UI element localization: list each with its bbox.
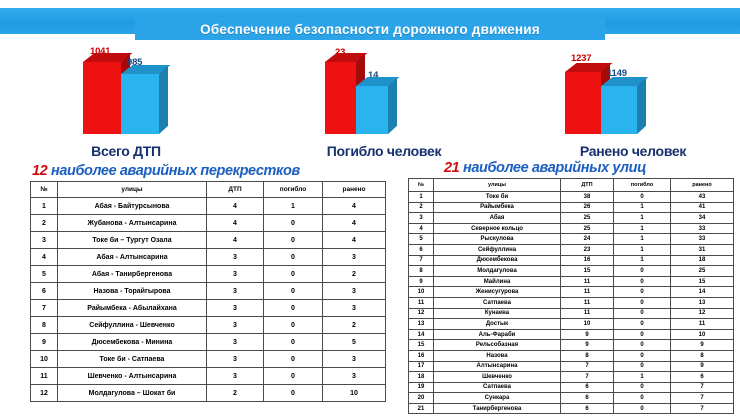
cell-dead: 0 — [614, 393, 671, 404]
cell-dtp: 3 — [207, 249, 264, 266]
column-header-hurt: ранено — [671, 179, 734, 192]
title-banner-inner: Обеспечение безопасности дорожного движе… — [135, 18, 605, 40]
cell-num: 10 — [31, 351, 58, 368]
column-header-dead: погибло — [614, 179, 671, 192]
cell-street: Шевченко - Алтынсарина — [58, 368, 207, 385]
left-table-heading-text: наиболее аварийных перекрестков — [51, 163, 300, 179]
chart-raneno-chelovek: 1237 1149 Ранено человек — [535, 42, 735, 160]
column-header-hurt: ранено — [323, 182, 386, 198]
table-row: 10Токе би - Сатпаева303 — [31, 351, 386, 368]
cell-num: 14 — [409, 329, 434, 340]
bar-red — [83, 62, 121, 134]
bar-blue — [121, 74, 159, 134]
bar-blue-side — [388, 78, 397, 134]
cell-hurt: 43 — [671, 192, 734, 203]
cell-street: Абая — [434, 213, 561, 224]
cell-hurt: 13 — [671, 297, 734, 308]
cell-num: 6 — [31, 283, 58, 300]
cell-num: 21 — [409, 403, 434, 414]
bar-blue-front — [356, 86, 388, 134]
cell-num: 18 — [409, 372, 434, 383]
cell-street: Алтынсарина — [434, 361, 561, 372]
chart-label: Погибло человек — [284, 143, 484, 159]
cell-street: Назова - Торайгырова — [58, 283, 207, 300]
table-row: 7Райымбека - Абылайхана303 — [31, 300, 386, 317]
cell-street: Кунаева — [434, 308, 561, 319]
cell-dead: 1 — [614, 202, 671, 213]
table-row: 4Абая - Алтынсарина303 — [31, 249, 386, 266]
cell-dead: 0 — [264, 385, 323, 402]
cell-dead: 0 — [614, 308, 671, 319]
right-table-heading: 21 наиболее аварийных улиц — [444, 160, 646, 176]
cell-dtp: 11 — [561, 287, 614, 298]
cell-hurt: 3 — [323, 300, 386, 317]
cell-hurt: 15 — [671, 276, 734, 287]
cell-hurt: 7 — [671, 403, 734, 414]
cell-dtp: 4 — [207, 232, 264, 249]
cell-dtp: 4 — [207, 215, 264, 232]
cell-hurt: 33 — [671, 234, 734, 245]
chart-label: Всего ДТП — [58, 143, 194, 159]
cell-hurt: 2 — [323, 266, 386, 283]
cell-dead: 1 — [264, 198, 323, 215]
cell-num: 11 — [409, 297, 434, 308]
cell-dtp: 7 — [561, 361, 614, 372]
bar-blue-side — [159, 66, 168, 134]
cell-dtp: 3 — [207, 368, 264, 385]
chart-bars: 1041 985 — [58, 42, 258, 142]
table-row: 10Женисугурова11014 — [409, 287, 734, 298]
cell-dtp: 3 — [207, 334, 264, 351]
cell-hurt: 14 — [671, 287, 734, 298]
table-row: 21Танирбергенова607 — [409, 403, 734, 414]
bar-red — [325, 62, 356, 134]
cell-dtp: 9 — [561, 340, 614, 351]
cell-street: Рыскулова — [434, 234, 561, 245]
cell-street: Сатпаева — [434, 382, 561, 393]
cell-dtp: 23 — [561, 244, 614, 255]
cell-hurt: 3 — [323, 368, 386, 385]
cell-dead: 0 — [264, 334, 323, 351]
cell-hurt: 41 — [671, 202, 734, 213]
table-row: 14Аль-Фараби9010 — [409, 329, 734, 340]
left-table-body: 1Абая - Байтурсынова4142Жубанова - Алтын… — [31, 198, 386, 402]
cell-num: 1 — [31, 198, 58, 215]
cell-dtp: 3 — [207, 317, 264, 334]
table-row: 3Токе би – Тургут Озала404 — [31, 232, 386, 249]
cell-dtp: 25 — [561, 223, 614, 234]
column-header-dead: погибло — [264, 182, 323, 198]
cell-num: 13 — [409, 319, 434, 330]
cell-dead: 0 — [614, 192, 671, 203]
cell-dtp: 11 — [561, 308, 614, 319]
bar-blue — [601, 86, 637, 134]
cell-street: Северное кольцо — [434, 223, 561, 234]
cell-dtp: 8 — [561, 350, 614, 361]
table-row: 20Сункара607 — [409, 393, 734, 404]
cell-num: 11 — [31, 368, 58, 385]
table-row: 1Токе би38043 — [409, 192, 734, 203]
table-row: 5Рыскулова24133 — [409, 234, 734, 245]
cell-hurt: 3 — [323, 351, 386, 368]
cell-dead: 1 — [614, 372, 671, 383]
cell-num: 3 — [31, 232, 58, 249]
cell-num: 7 — [409, 255, 434, 266]
right-table-heading-count: 21 — [444, 160, 459, 176]
cell-dead: 1 — [614, 234, 671, 245]
chart-label: Ранено человек — [533, 143, 733, 159]
table-row: 2Райымбека26141 — [409, 202, 734, 213]
cell-dtp: 26 — [561, 202, 614, 213]
cell-dead: 1 — [614, 223, 671, 234]
cell-street: Дюсембекова - Минина — [58, 334, 207, 351]
cell-street: Сункара — [434, 393, 561, 404]
table-header-row: № улицы ДТП погибло ранено — [31, 182, 386, 198]
page-title: Обеспечение безопасности дорожного движе… — [200, 22, 540, 37]
table-row: 2Жубанова - Алтынсарина404 — [31, 215, 386, 232]
cell-num: 9 — [409, 276, 434, 287]
table-row: 3Абая25134 — [409, 213, 734, 224]
column-header-num: № — [409, 179, 434, 192]
cell-dtp: 4 — [207, 198, 264, 215]
table-row: 19Сатпаева607 — [409, 382, 734, 393]
chart-pogiblo-chelovek: 23 14 Погибло человек — [292, 42, 492, 160]
title-banner: Обеспечение безопасности дорожного движе… — [0, 8, 740, 34]
cell-dtp: 7 — [561, 372, 614, 383]
table-row: 1Абая - Байтурсынова414 — [31, 198, 386, 215]
bar-red-front — [83, 62, 121, 134]
table-row: 13Достык10011 — [409, 319, 734, 330]
column-header-street: улицы — [58, 182, 207, 198]
cell-dtp: 3 — [207, 351, 264, 368]
cell-dead: 0 — [614, 329, 671, 340]
cell-num: 5 — [31, 266, 58, 283]
table-row: 12Кунаева11012 — [409, 308, 734, 319]
cell-street: Райымбека - Абылайхана — [58, 300, 207, 317]
cell-dead: 0 — [614, 266, 671, 277]
cell-hurt: 3 — [323, 249, 386, 266]
right-table-heading-text: наиболее аварийных улиц — [463, 160, 646, 176]
cell-dead: 0 — [614, 350, 671, 361]
chart-vsego-dtp: 1041 985 Всего ДТП — [58, 42, 258, 160]
cell-num: 16 — [409, 350, 434, 361]
chart-bars: 23 14 — [292, 42, 492, 142]
cell-dtp: 3 — [207, 266, 264, 283]
cell-street: Райымбека — [434, 202, 561, 213]
cell-dead: 0 — [614, 382, 671, 393]
cell-hurt: 3 — [323, 283, 386, 300]
cell-street: Достык — [434, 319, 561, 330]
cell-num: 20 — [409, 393, 434, 404]
table-row: 11Шевченко - Алтынсарина303 — [31, 368, 386, 385]
cell-dead: 0 — [264, 283, 323, 300]
cell-num: 9 — [31, 334, 58, 351]
cell-street: Жубанова - Алтынсарина — [58, 215, 207, 232]
cell-hurt: 4 — [323, 232, 386, 249]
cell-street: Дюсембекова — [434, 255, 561, 266]
cell-num: 7 — [31, 300, 58, 317]
table-row: 12Молдагулова – Шокат би2010 — [31, 385, 386, 402]
cell-dtp: 16 — [561, 255, 614, 266]
table-row: 9Дюсембекова - Минина305 — [31, 334, 386, 351]
cell-hurt: 10 — [671, 329, 734, 340]
cell-dead: 0 — [264, 249, 323, 266]
left-table-heading: 12 наиболее аварийных перекрестков — [32, 163, 300, 179]
cell-dtp: 6 — [561, 403, 614, 414]
cell-street: Абая - Алтынсарина — [58, 249, 207, 266]
cell-num: 8 — [31, 317, 58, 334]
cell-num: 15 — [409, 340, 434, 351]
cell-dtp: 38 — [561, 192, 614, 203]
cell-num: 3 — [409, 213, 434, 224]
cell-dead: 0 — [264, 215, 323, 232]
cell-hurt: 2 — [323, 317, 386, 334]
cell-street: Сейфуллина - Шевченко — [58, 317, 207, 334]
cell-dead: 0 — [614, 319, 671, 330]
cell-dead: 0 — [614, 287, 671, 298]
bar-blue-side — [637, 78, 646, 134]
bar-blue-front — [121, 74, 159, 134]
table-row: 17Алтынсарина709 — [409, 361, 734, 372]
cell-hurt: 6 — [671, 372, 734, 383]
cell-dead: 0 — [264, 351, 323, 368]
column-header-num: № — [31, 182, 58, 198]
cell-dtp: 24 — [561, 234, 614, 245]
cell-dead: 0 — [614, 403, 671, 414]
cell-hurt: 18 — [671, 255, 734, 266]
cell-num: 12 — [409, 308, 434, 319]
cell-num: 4 — [409, 223, 434, 234]
chart-bars: 1237 1149 — [535, 42, 735, 142]
cell-num: 19 — [409, 382, 434, 393]
cell-street: Молдагулова — [434, 266, 561, 277]
table-header-row: № улицы ДТП погибло ранено — [409, 179, 734, 192]
cell-street: Молдагулова – Шокат би — [58, 385, 207, 402]
left-table-head: № улицы ДТП погибло ранено — [31, 182, 386, 198]
table-row: 5Абая - Танирбергенова302 — [31, 266, 386, 283]
cell-dtp: 11 — [561, 297, 614, 308]
left-table-heading-count: 12 — [32, 163, 47, 179]
cell-num: 2 — [31, 215, 58, 232]
column-header-dtp: ДТП — [207, 182, 264, 198]
table-row: 6Назова - Торайгырова303 — [31, 283, 386, 300]
cell-dtp: 6 — [561, 382, 614, 393]
cell-dead: 1 — [614, 244, 671, 255]
cell-dead: 0 — [614, 361, 671, 372]
cell-num: 12 — [31, 385, 58, 402]
table-row: 6Сейфуллина23131 — [409, 244, 734, 255]
cell-dtp: 15 — [561, 266, 614, 277]
cell-street: Назова — [434, 350, 561, 361]
cell-dead: 0 — [264, 232, 323, 249]
cell-num: 10 — [409, 287, 434, 298]
cell-street: Рельсобазная — [434, 340, 561, 351]
right-table-head: № улицы ДТП погибло ранено — [409, 179, 734, 192]
cell-dead: 0 — [614, 340, 671, 351]
table-row: 9Майлина11015 — [409, 276, 734, 287]
table-row: 11Сатпаева11013 — [409, 297, 734, 308]
cell-dead: 0 — [264, 317, 323, 334]
cell-dead: 1 — [614, 255, 671, 266]
table-row: 4Северное кольцо25133 — [409, 223, 734, 234]
cell-street: Сатпаева — [434, 297, 561, 308]
cell-dead: 0 — [614, 276, 671, 287]
table-row: 8Молдагулова15025 — [409, 266, 734, 277]
bar-blue — [356, 86, 388, 134]
cell-dtp: 25 — [561, 213, 614, 224]
cell-dead: 1 — [614, 213, 671, 224]
bar-red-front — [565, 72, 601, 134]
cell-hurt: 33 — [671, 223, 734, 234]
cell-dtp: 3 — [207, 300, 264, 317]
cell-hurt: 11 — [671, 319, 734, 330]
cell-hurt: 31 — [671, 244, 734, 255]
column-header-dtp: ДТП — [561, 179, 614, 192]
cell-dead: 0 — [614, 297, 671, 308]
cell-street: Абая - Байтурсынова — [58, 198, 207, 215]
cell-street: Аль-Фараби — [434, 329, 561, 340]
column-header-street: улицы — [434, 179, 561, 192]
cell-num: 17 — [409, 361, 434, 372]
cell-hurt: 7 — [671, 393, 734, 404]
cell-hurt: 7 — [671, 382, 734, 393]
cell-hurt: 4 — [323, 215, 386, 232]
bar-blue-front — [601, 86, 637, 134]
table-row: 15Рельсобазная909 — [409, 340, 734, 351]
cell-hurt: 5 — [323, 334, 386, 351]
table-row: 16Назова808 — [409, 350, 734, 361]
table-row: 7Дюсембекова16118 — [409, 255, 734, 266]
table-row: 18Шевченко716 — [409, 372, 734, 383]
cell-dtp: 10 — [561, 319, 614, 330]
cell-street: Танирбергенова — [434, 403, 561, 414]
cell-dtp: 2 — [207, 385, 264, 402]
cell-dead: 0 — [264, 266, 323, 283]
cell-street: Токе би — [434, 192, 561, 203]
slide-canvas: Обеспечение безопасности дорожного движе… — [0, 0, 740, 416]
cell-dtp: 9 — [561, 329, 614, 340]
cell-dtp: 11 — [561, 276, 614, 287]
cell-hurt: 9 — [671, 340, 734, 351]
cell-num: 8 — [409, 266, 434, 277]
bar-red — [565, 72, 601, 134]
cell-dtp: 6 — [561, 393, 614, 404]
right-table-body: 1Токе би380432Райымбека261413Абая251344С… — [409, 192, 734, 414]
cell-street: Женисугурова — [434, 287, 561, 298]
cell-num: 4 — [31, 249, 58, 266]
right-data-table: № улицы ДТП погибло ранено 1Токе би38043… — [408, 178, 734, 414]
left-data-table: № улицы ДТП погибло ранено 1Абая - Байту… — [30, 181, 386, 402]
cell-street: Майлина — [434, 276, 561, 287]
cell-hurt: 10 — [323, 385, 386, 402]
table-row: 8Сейфуллина - Шевченко302 — [31, 317, 386, 334]
cell-street: Абая - Танирбергенова — [58, 266, 207, 283]
cell-street: Сейфуллина — [434, 244, 561, 255]
cell-hurt: 12 — [671, 308, 734, 319]
cell-hurt: 25 — [671, 266, 734, 277]
cell-dtp: 3 — [207, 283, 264, 300]
cell-hurt: 34 — [671, 213, 734, 224]
cell-hurt: 4 — [323, 198, 386, 215]
cell-hurt: 8 — [671, 350, 734, 361]
cell-dead: 0 — [264, 300, 323, 317]
cell-num: 2 — [409, 202, 434, 213]
cell-street: Токе би - Сатпаева — [58, 351, 207, 368]
cell-num: 6 — [409, 244, 434, 255]
cell-num: 5 — [409, 234, 434, 245]
cell-num: 1 — [409, 192, 434, 203]
bar-red-front — [325, 62, 356, 134]
cell-dead: 0 — [264, 368, 323, 385]
cell-street: Токе би – Тургут Озала — [58, 232, 207, 249]
cell-street: Шевченко — [434, 372, 561, 383]
cell-hurt: 9 — [671, 361, 734, 372]
